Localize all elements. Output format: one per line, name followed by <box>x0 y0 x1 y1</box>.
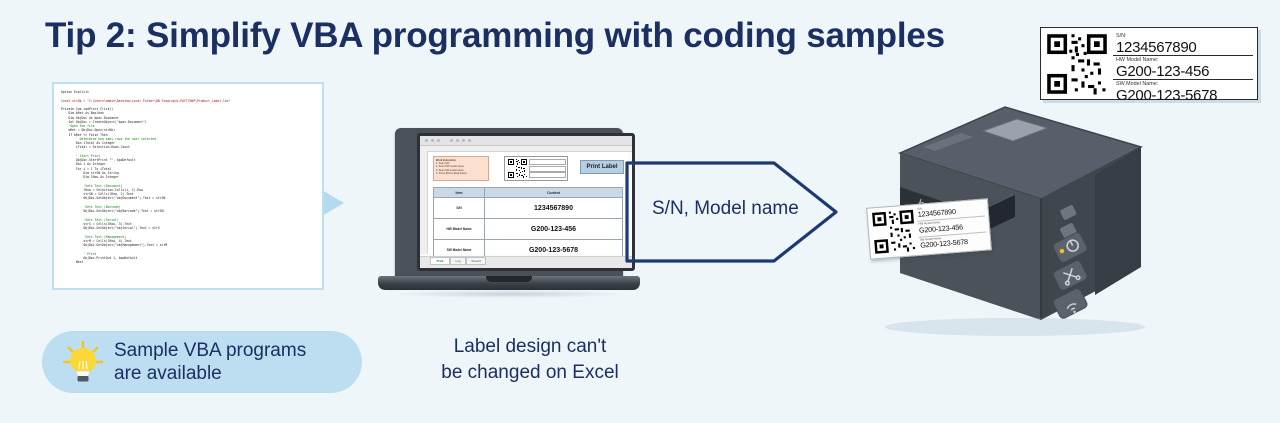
lightbulb-icon <box>60 339 106 385</box>
laptop-screen: Work Instruction 1. Scan S/N 2. Scan HW … <box>420 136 632 268</box>
label-detail-value: 1234567890 <box>1116 40 1253 55</box>
label-preview-box <box>504 156 568 181</box>
cell-content: 1234567890 <box>485 198 623 219</box>
flow-arrow: S/N, Model name <box>624 160 840 265</box>
cell-item: S/N <box>434 198 485 219</box>
print-label-button[interactable]: Print Label <box>580 160 624 174</box>
arrow-label: S/N, Model name <box>652 198 802 220</box>
sample-programs-callout: Sample VBA programs are available <box>42 331 362 393</box>
qr-code-icon <box>507 158 528 179</box>
column-header-content: Content <box>485 188 623 198</box>
label-detail-value: G200-123-5678 <box>1116 88 1253 103</box>
laptop-shadow <box>392 290 626 298</box>
sheet-tab-sheet3[interactable]: Sheet3 <box>466 257 486 265</box>
label-detail-row: HW Model Name: G200-123-456 <box>1113 56 1253 80</box>
code-callout-tail <box>322 190 344 216</box>
label-detail-value: G200-123-456 <box>1116 64 1253 79</box>
laptop-trackpad-notch <box>486 276 532 282</box>
work-instruction-step: 4. Press [Print Label] button <box>436 172 486 175</box>
label-design-caption: Label design can't be changed on Excel <box>410 334 650 386</box>
cell-content: G200-123-456 <box>485 219 623 240</box>
caption-line-1: Label design can't <box>410 334 650 360</box>
page-title: Tip 2: Simplify VBA programming with cod… <box>45 16 945 56</box>
vba-code-panel: Option Explicit Const strDb = "C:\Users\… <box>52 82 324 290</box>
slide-canvas: Tip 2: Simplify VBA programming with cod… <box>0 0 1280 423</box>
label-detail-row: SW Model Name: G200-123-5678 <box>1113 80 1253 103</box>
label-zoom-detail: S/N: 1234567890 HW Model Name: G200-123-… <box>1040 27 1258 100</box>
label-preview-row <box>529 172 566 178</box>
printed-label: S/N: 1234567890 HW Model Name: G200-123-… <box>866 198 992 259</box>
label-preview-row <box>529 159 566 165</box>
work-instruction-box: Work Instruction 1. Scan S/N 2. Scan HW … <box>433 156 489 181</box>
excel-titlebar <box>420 136 632 146</box>
label-preview-row <box>529 166 566 172</box>
table-row: HW Model Name G200-123-456 <box>434 219 623 240</box>
excel-row-headers <box>420 151 428 254</box>
qr-code-icon <box>870 208 917 255</box>
cell-item: HW Model Name <box>434 219 485 240</box>
laptop-illustration: Work Instruction 1. Scan S/N 2. Scan HW … <box>378 128 640 296</box>
vba-code-body: Option Explicit Const strDb = "C:\Users\… <box>61 90 315 264</box>
pill-line-2: are available <box>114 362 306 385</box>
column-header-item: Item <box>434 188 485 198</box>
code-line: Next <box>61 260 315 264</box>
caption-line-2: be changed on Excel <box>410 360 650 386</box>
table-header-row: Item Content <box>434 188 623 198</box>
table-row: S/N 1234567890 <box>434 198 623 219</box>
laptop-lid: Work Instruction 1. Scan S/N 2. Scan HW … <box>395 128 623 278</box>
pill-line-1: Sample VBA programs <box>114 339 306 362</box>
sheet-tab-print[interactable]: Print <box>430 257 450 265</box>
qr-code-icon <box>1045 32 1109 96</box>
sample-programs-text: Sample VBA programs are available <box>114 339 306 385</box>
excel-sheet-area: Work Instruction 1. Scan S/N 2. Scan HW … <box>428 152 628 254</box>
sheet-tab-log[interactable]: Log <box>450 257 466 265</box>
label-detail-row: S/N: 1234567890 <box>1113 32 1253 56</box>
excel-data-table: Item Content S/N 1234567890 HW Model Nam… <box>433 187 623 261</box>
